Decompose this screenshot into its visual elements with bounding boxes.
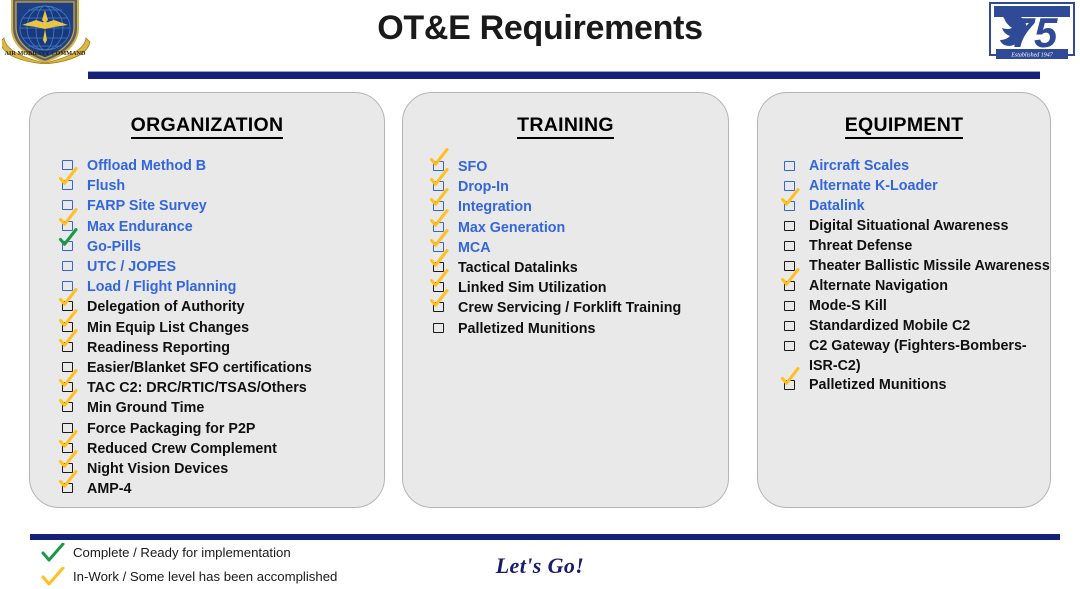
- requirement-label: Max Generation: [458, 220, 565, 236]
- requirement-item[interactable]: Night Vision Devices: [59, 459, 384, 479]
- requirement-item[interactable]: Load / Flight Planning: [59, 277, 384, 297]
- checkbox-icon[interactable]: [62, 483, 73, 493]
- checkbox-icon[interactable]: [433, 302, 444, 312]
- requirement-item[interactable]: Linked Sim Utilization: [430, 278, 728, 298]
- checkbox-icon[interactable]: [784, 301, 795, 311]
- requirement-item[interactable]: Aircraft Scales: [781, 157, 1050, 177]
- checkbox-icon[interactable]: [433, 262, 444, 272]
- requirement-label: Alternate K-Loader: [809, 178, 938, 194]
- requirement-label: Palletized Munitions: [809, 377, 946, 393]
- requirement-label: Standardized Mobile C2: [809, 318, 970, 334]
- checkbox-icon[interactable]: [433, 181, 444, 191]
- checkbox-icon[interactable]: [62, 301, 73, 311]
- checkbox-icon[interactable]: [784, 181, 795, 191]
- requirement-item[interactable]: MCA: [430, 238, 728, 258]
- svg-text:AIR MOBILITY COMMAND: AIR MOBILITY COMMAND: [5, 50, 86, 57]
- requirement-item[interactable]: Max Endurance: [59, 217, 384, 237]
- checkbox-icon[interactable]: [62, 322, 73, 332]
- requirement-item[interactable]: Digital Situational Awareness: [781, 217, 1050, 237]
- panel-title-organization: ORGANIZATION: [30, 114, 384, 137]
- checkbox-icon[interactable]: [62, 443, 73, 453]
- requirement-item[interactable]: Mode-S Kill: [781, 297, 1050, 317]
- requirement-label: Crew Servicing / Forklift Training: [458, 300, 681, 316]
- requirement-item[interactable]: Min Ground Time: [59, 398, 384, 418]
- checkbox-icon[interactable]: [62, 180, 73, 190]
- requirement-label: Max Endurance: [87, 219, 193, 235]
- requirement-item[interactable]: SFO: [430, 157, 728, 177]
- item-list-equipment: Aircraft ScalesAlternate K-LoaderDatalin…: [781, 157, 1050, 396]
- checkbox-icon[interactable]: [433, 323, 444, 333]
- requirement-label: Force Packaging for P2P: [87, 421, 255, 437]
- requirement-label: Min Ground Time: [87, 400, 204, 416]
- requirements-columns: ORGANIZATION Offload Method BFlushFARP S…: [0, 92, 1080, 510]
- requirement-label: FARP Site Survey: [87, 198, 207, 214]
- requirement-label: Flush: [87, 178, 125, 194]
- requirement-label: TAC C2: DRC/RTIC/TSAS/Others: [87, 380, 307, 396]
- checkbox-icon[interactable]: [62, 221, 73, 231]
- checkbox-icon[interactable]: [62, 402, 73, 412]
- requirement-item[interactable]: Palletized Munitions: [430, 319, 728, 339]
- item-list-organization: Offload Method BFlushFARP Site SurveyMax…: [59, 156, 384, 499]
- requirement-item[interactable]: UTC / JOPES: [59, 257, 384, 277]
- requirement-item[interactable]: FARP Site Survey: [59, 196, 384, 216]
- requirement-item[interactable]: Offload Method B: [59, 156, 384, 176]
- requirement-label: Delegation of Authority: [87, 299, 245, 315]
- tagline: Let's Go!: [0, 553, 1080, 579]
- requirement-item[interactable]: Max Generation: [430, 218, 728, 238]
- requirement-label: Drop-In: [458, 179, 509, 195]
- requirement-item[interactable]: Easier/Blanket SFO certifications: [59, 358, 384, 378]
- requirement-label: SFO: [458, 159, 487, 175]
- requirement-item[interactable]: TAC C2: DRC/RTIC/TSAS/Others: [59, 378, 384, 398]
- requirement-label: Threat Defense: [809, 238, 912, 254]
- requirement-item[interactable]: Reduced Crew Complement: [59, 439, 384, 459]
- requirement-item[interactable]: Palletized Munitions: [781, 376, 1050, 396]
- requirement-item[interactable]: Alternate Navigation: [781, 277, 1050, 297]
- panel-organization: ORGANIZATION Offload Method BFlushFARP S…: [29, 92, 385, 508]
- panel-title-equipment: EQUIPMENT: [758, 114, 1050, 137]
- checkbox-icon[interactable]: [62, 423, 73, 433]
- checkbox-icon[interactable]: [433, 282, 444, 292]
- requirement-item[interactable]: Alternate K-Loader: [781, 177, 1050, 197]
- requirement-label: Go-Pills: [87, 239, 141, 255]
- panel-title-training: TRAINING: [403, 114, 728, 137]
- requirement-label: Datalink: [809, 198, 865, 214]
- requirement-item[interactable]: Min Equip List Changes: [59, 318, 384, 338]
- requirement-label: Theater Ballistic Missile Awareness: [809, 258, 1050, 274]
- requirement-item[interactable]: Standardized Mobile C2: [781, 317, 1050, 337]
- checkbox-icon[interactable]: [62, 362, 73, 372]
- requirement-label: Offload Method B: [87, 158, 206, 174]
- anniversary-banner-text: Established 1947: [1010, 52, 1053, 59]
- requirement-label: Readiness Reporting: [87, 340, 230, 356]
- checkbox-icon[interactable]: [62, 160, 73, 170]
- page-title: OT&E Requirements: [0, 6, 1080, 50]
- item-list-training: SFODrop-InIntegrationMax GenerationMCATa…: [430, 157, 728, 339]
- header-divider-rule: [88, 71, 1040, 79]
- requirement-label: C2 Gateway (Fighters-Bombers-ISR-C2): [809, 338, 1027, 374]
- amc-75th-anniversary-logo: 75 Established 1947: [988, 2, 1076, 62]
- requirement-label: Aircraft Scales: [809, 158, 909, 174]
- requirement-item[interactable]: Go-Pills: [59, 237, 384, 257]
- panel-training: TRAINING SFODrop-InIntegrationMax Genera…: [402, 92, 729, 508]
- requirement-label: Load / Flight Planning: [87, 279, 236, 295]
- checkbox-icon[interactable]: [433, 161, 444, 171]
- checkbox-icon[interactable]: [433, 201, 444, 211]
- checkbox-icon[interactable]: [62, 463, 73, 473]
- requirement-label: Digital Situational Awareness: [809, 218, 1008, 234]
- requirement-item[interactable]: C2 Gateway (Fighters-Bombers-ISR-C2): [781, 337, 1050, 376]
- checkbox-icon[interactable]: [784, 281, 795, 291]
- requirement-label: Mode-S Kill: [809, 298, 887, 314]
- footer-divider-rule: [30, 534, 1060, 540]
- requirement-item[interactable]: Tactical Datalinks: [430, 258, 728, 278]
- requirement-label: Easier/Blanket SFO certifications: [87, 360, 312, 376]
- requirement-label: UTC / JOPES: [87, 259, 176, 275]
- checkbox-icon[interactable]: [62, 241, 73, 251]
- requirement-label: Alternate Navigation: [809, 278, 948, 294]
- checkbox-icon[interactable]: [784, 341, 795, 351]
- checkbox-icon[interactable]: [784, 201, 795, 211]
- requirement-label: Reduced Crew Complement: [87, 441, 277, 457]
- requirement-item[interactable]: AMP-4: [59, 479, 384, 499]
- requirement-label: Palletized Munitions: [458, 321, 595, 337]
- checkbox-icon[interactable]: [784, 161, 795, 171]
- checkbox-icon[interactable]: [784, 221, 795, 231]
- requirement-label: Integration: [458, 199, 532, 215]
- checkbox-icon[interactable]: [62, 261, 73, 271]
- checkbox-icon[interactable]: [433, 242, 444, 252]
- requirement-item[interactable]: Flush: [59, 176, 384, 196]
- requirement-item[interactable]: Readiness Reporting: [59, 338, 384, 358]
- requirement-item[interactable]: Integration: [430, 197, 728, 217]
- requirement-label: Linked Sim Utilization: [458, 280, 607, 296]
- requirement-label: Min Equip List Changes: [87, 320, 249, 336]
- requirement-item[interactable]: Threat Defense: [781, 237, 1050, 257]
- slide-header: AIR MOBILITY COMMAND OT&E Requirements 7…: [0, 0, 1080, 84]
- requirement-item[interactable]: Drop-In: [430, 177, 728, 197]
- requirement-label: Tactical Datalinks: [458, 260, 578, 276]
- requirement-item[interactable]: Force Packaging for P2P: [59, 419, 384, 439]
- checkbox-icon[interactable]: [62, 342, 73, 352]
- panel-equipment: EQUIPMENT Aircraft ScalesAlternate K-Loa…: [757, 92, 1051, 508]
- requirement-item[interactable]: Datalink: [781, 197, 1050, 217]
- checkbox-icon[interactable]: [784, 321, 795, 331]
- checkbox-icon[interactable]: [784, 241, 795, 251]
- checkbox-icon[interactable]: [784, 380, 795, 390]
- requirement-item[interactable]: Delegation of Authority: [59, 297, 384, 317]
- checkbox-icon[interactable]: [62, 382, 73, 392]
- checkbox-icon[interactable]: [62, 281, 73, 291]
- checkbox-icon[interactable]: [62, 200, 73, 210]
- checkbox-icon[interactable]: [784, 261, 795, 271]
- checkbox-icon[interactable]: [433, 222, 444, 232]
- requirement-label: MCA: [458, 240, 491, 256]
- requirement-item[interactable]: Theater Ballistic Missile Awareness: [781, 257, 1050, 277]
- requirement-label: AMP-4: [87, 481, 131, 497]
- requirement-item[interactable]: Crew Servicing / Forklift Training: [430, 298, 728, 318]
- requirement-label: Night Vision Devices: [87, 461, 228, 477]
